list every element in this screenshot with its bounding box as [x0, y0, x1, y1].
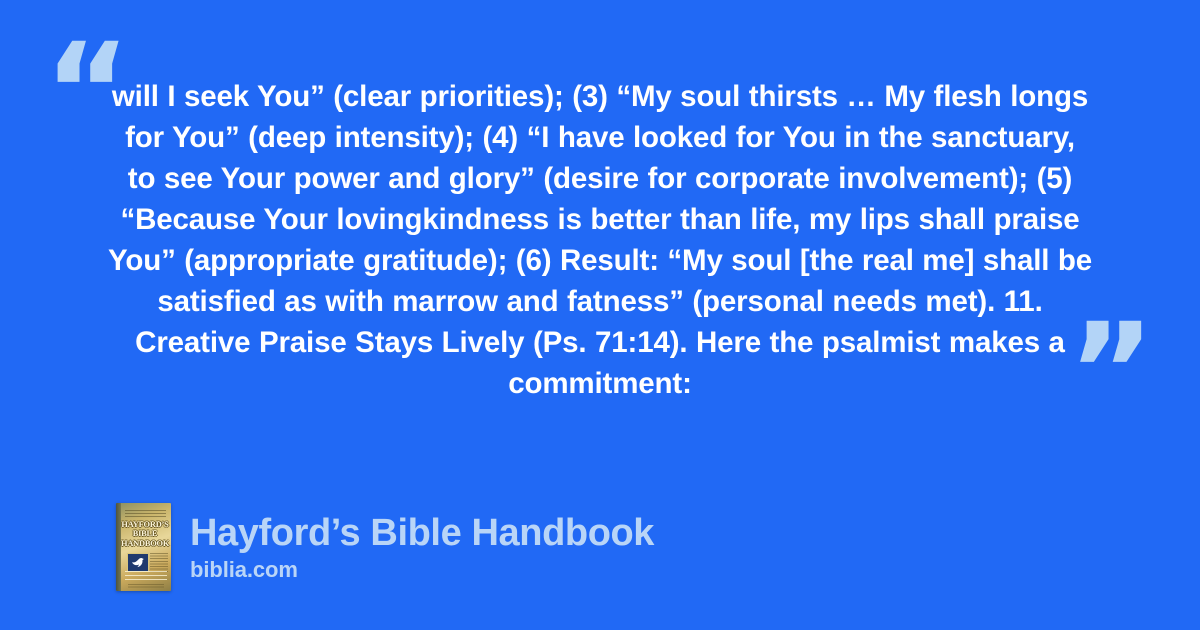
book-cover-title-line-2: Bible: [133, 529, 158, 538]
book-cover-title-line-3: Handbook: [121, 539, 169, 548]
book-cover-thumbnail: Hayford’sBibleHandbook: [116, 503, 171, 591]
quote-text: will I seek You” (clear priorities); (3)…: [108, 76, 1092, 404]
book-cover-footer-line: [128, 584, 164, 588]
site-name: biblia.com: [190, 557, 654, 583]
book-cover-title-line-1: Hayford’s: [121, 520, 168, 529]
book-cover-topline: [125, 510, 166, 517]
attribution-text: Hayford’s Bible Handbook biblia.com: [190, 511, 654, 583]
quote-card: “ will I seek You” (clear priorities); (…: [0, 0, 1200, 630]
book-title: Hayford’s Bible Handbook: [190, 511, 654, 555]
attribution: Hayford’sBibleHandbook Hayford’s Bible H…: [116, 503, 654, 591]
book-cover-blurb: [150, 553, 168, 572]
dove-emblem-icon: [127, 553, 149, 572]
book-cover-title: Hayford’sBibleHandbook: [121, 520, 169, 548]
book-cover-author-line: [125, 571, 167, 580]
close-quote-icon: ”: [1068, 306, 1155, 438]
